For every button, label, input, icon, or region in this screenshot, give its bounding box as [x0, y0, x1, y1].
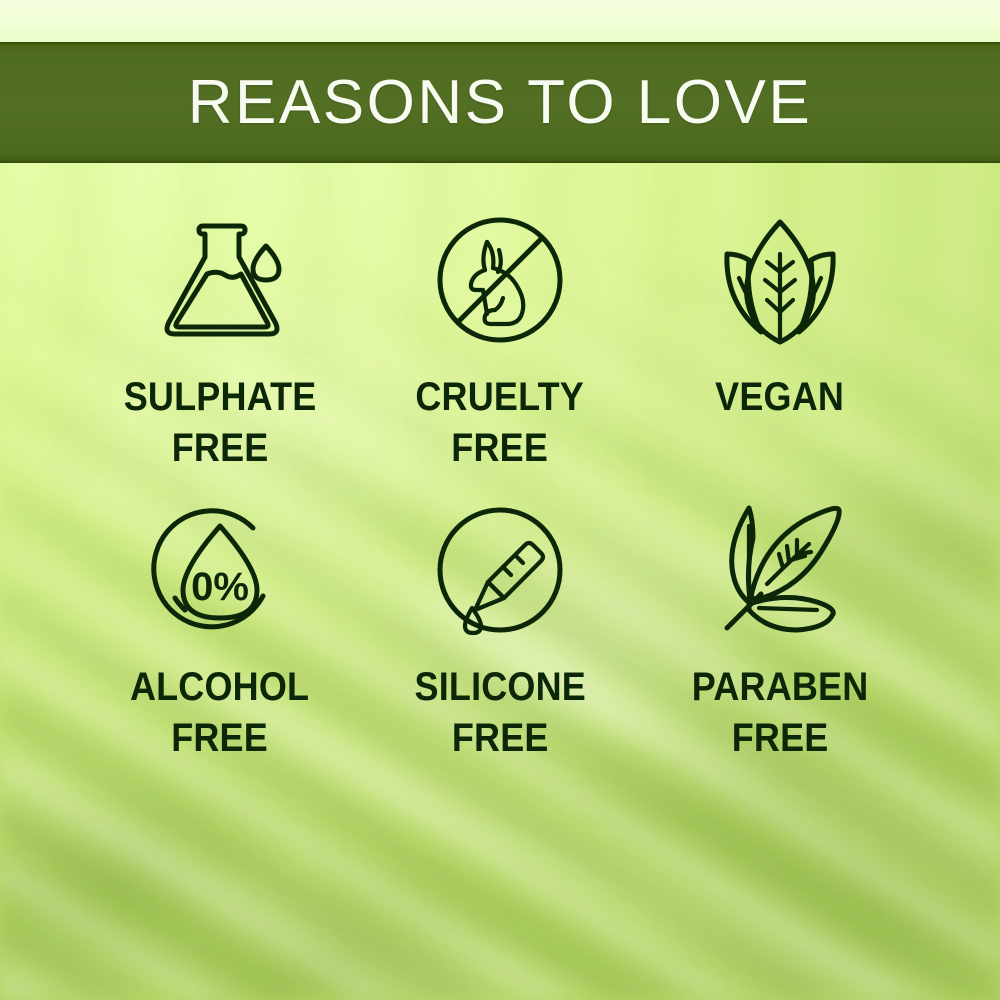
- feature-silicone-free: SILICONE FREE: [360, 500, 640, 790]
- three-leaves-icon: [705, 210, 855, 350]
- feature-label: VEGAN: [716, 372, 845, 423]
- feature-label: PARABEN FREE: [692, 662, 869, 764]
- feature-vegan: VEGAN: [640, 210, 920, 500]
- header-banner: REASONS TO LOVE: [0, 42, 1000, 163]
- feature-label: ALCOHOL FREE: [130, 662, 309, 764]
- feature-label: SULPHATE FREE: [124, 372, 317, 474]
- no-animal-testing-rabbit-icon: [425, 210, 575, 350]
- zero-percent-droplet-icon: 0%: [145, 500, 295, 640]
- leaf-sprig-icon: [705, 500, 855, 640]
- feature-alcohol-free: 0% ALCOHOL FREE: [80, 500, 360, 790]
- reasons-to-love-poster: REASONS TO LOVE SULPHATE FREE: [0, 0, 1000, 1000]
- page-title: REASONS TO LOVE: [188, 72, 812, 134]
- flask-droplet-icon: [145, 210, 295, 350]
- feature-label: SILICONE FREE: [414, 662, 585, 764]
- feature-sulphate-free: SULPHATE FREE: [80, 210, 360, 500]
- feature-label: CRUELTY FREE: [416, 372, 585, 474]
- zero-percent-text: 0%: [191, 565, 249, 609]
- feature-cruelty-free: CRUELTY FREE: [360, 210, 640, 500]
- dropper-pipette-icon: [425, 500, 575, 640]
- features-grid: SULPHATE FREE: [0, 210, 1000, 790]
- top-strip: [0, 0, 1000, 44]
- feature-paraben-free: PARABEN FREE: [640, 500, 920, 790]
